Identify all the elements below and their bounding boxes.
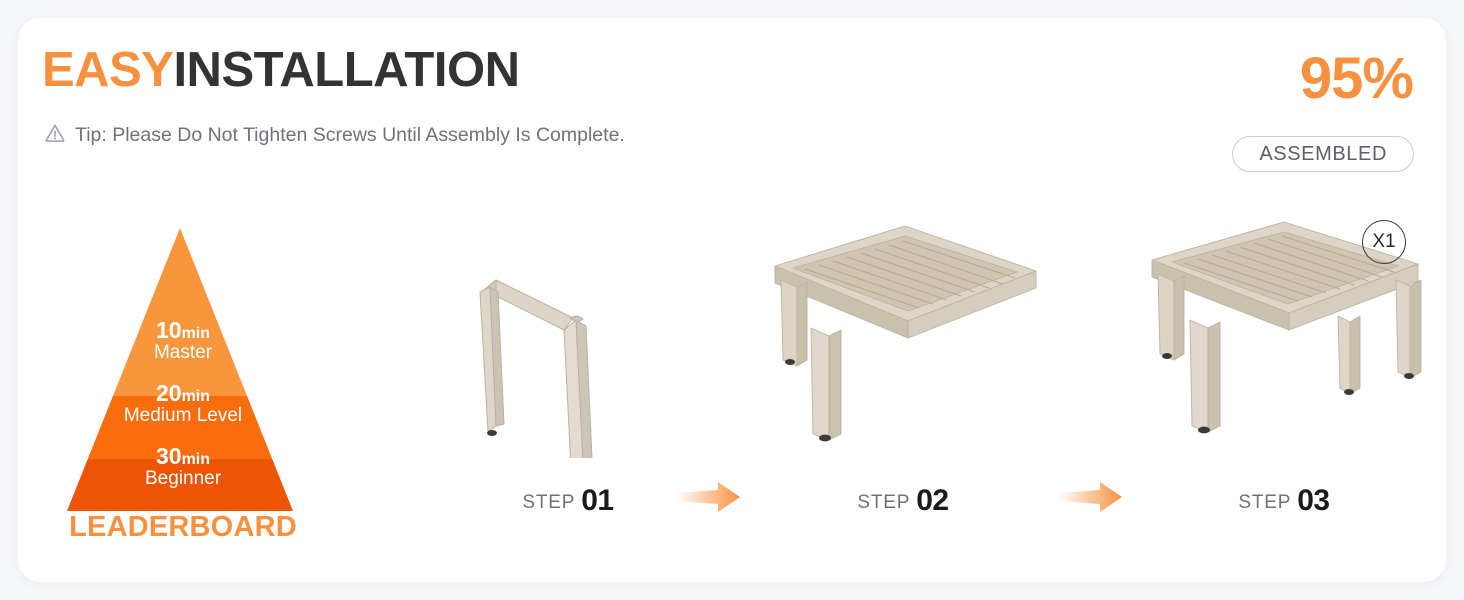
tier-unit-medium: min — [182, 388, 210, 405]
tier-time-beginner: 30 — [156, 443, 182, 469]
tip-text: Tip: Please Do Not Tighten Screws Until … — [75, 124, 625, 147]
step-01-number: 01 — [581, 484, 613, 517]
quantity-badge-label: X1 — [1372, 231, 1395, 253]
quantity-badge: X1 — [1362, 220, 1406, 264]
step-01: STEP01 — [418, 208, 718, 538]
table-frame-two-legs-icon — [418, 208, 718, 458]
pyramid-tier-master: 10min Master — [48, 318, 318, 363]
leaderboard-pyramid: 10min Master 20min Medium Level 30min Be… — [48, 206, 318, 556]
leaderboard-title: LEADERBOARD — [48, 511, 318, 544]
tier-unit-master: min — [182, 325, 210, 342]
tier-label-medium: Medium Level — [48, 406, 318, 426]
assembly-steps: STEP01 — [418, 208, 1418, 538]
step-03-label: STEP03 — [1134, 484, 1434, 518]
arrow-right-icon — [674, 480, 744, 514]
step-01-label: STEP01 — [418, 484, 718, 518]
assembled-percent: 95% — [1300, 50, 1413, 108]
page-title-rest: INSTALLATION — [173, 43, 519, 97]
step-01-word: STEP — [522, 492, 575, 513]
arrow-right-icon — [1056, 480, 1126, 514]
pyramid-tier-beginner: 30min Beginner — [48, 444, 318, 489]
step-02-number: 02 — [916, 484, 948, 517]
page-title-accent: EASY — [42, 43, 173, 97]
installation-card: EASYINSTALLATION Tip: Please Do Not Tigh… — [18, 18, 1446, 582]
tier-time-medium: 20 — [156, 380, 182, 406]
step-02: STEP02 — [753, 208, 1053, 538]
status-badge-label: ASSEMBLED — [1259, 143, 1387, 166]
status-badge: ASSEMBLED — [1232, 136, 1414, 172]
tip-row: Tip: Please Do Not Tighten Screws Until … — [44, 122, 625, 149]
step-02-label: STEP02 — [753, 484, 1053, 518]
tier-unit-beginner: min — [182, 451, 210, 468]
warning-triangle-icon — [44, 122, 66, 149]
step-03-word: STEP — [1238, 492, 1291, 513]
step-03-number: 03 — [1297, 484, 1329, 517]
tier-label-master: Master — [48, 343, 318, 363]
step-02-word: STEP — [857, 492, 910, 513]
pyramid-tier-medium: 20min Medium Level — [48, 381, 318, 426]
tier-time-master: 10 — [156, 317, 182, 343]
table-top-two-legs-icon — [753, 208, 1053, 458]
page-title: EASYINSTALLATION — [42, 42, 519, 98]
tier-label-beginner: Beginner — [48, 469, 318, 489]
